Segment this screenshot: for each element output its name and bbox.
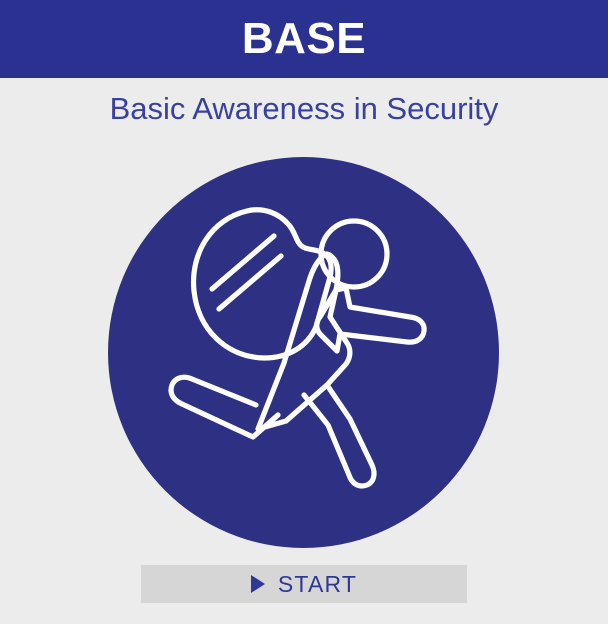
subtitle-container: Basic Awareness in Security	[0, 78, 608, 138]
header-band: BASE	[0, 0, 608, 78]
running-person-carrying-sack-icon	[108, 157, 499, 548]
illustration-container	[108, 157, 499, 548]
play-triangle-icon	[251, 575, 265, 593]
page-title: BASE	[242, 17, 366, 61]
icon-background-circle	[108, 157, 499, 548]
start-button[interactable]: START	[141, 565, 467, 603]
page-subtitle: Basic Awareness in Security	[110, 93, 499, 124]
course-card-page: BASE Basic Awareness in Security	[0, 0, 608, 624]
start-button-label: START	[278, 573, 357, 596]
